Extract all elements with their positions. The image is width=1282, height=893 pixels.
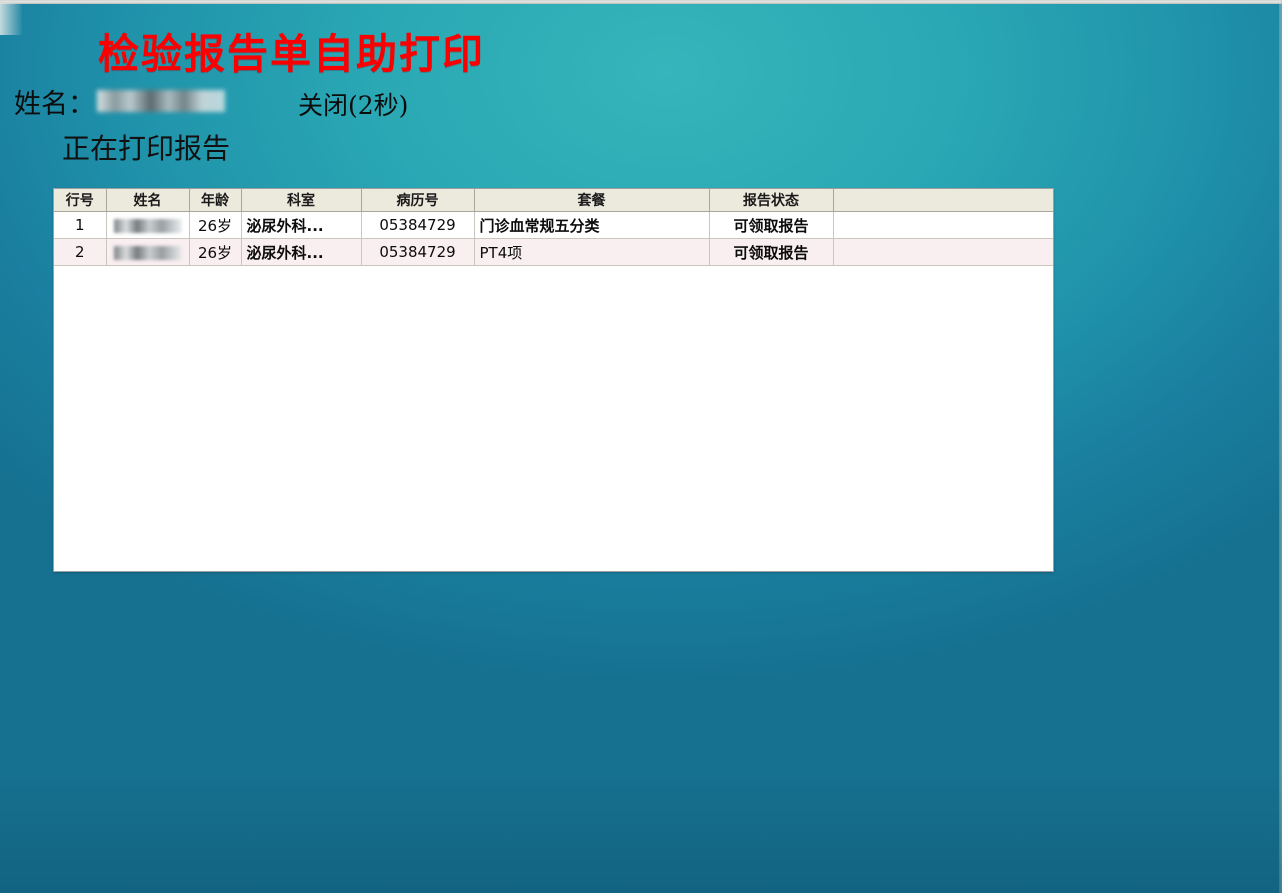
window-frame-left-strip [0,3,22,35]
close-countdown-button[interactable]: 关闭(2秒) [298,86,408,122]
cell-dept: 泌尿外科... [241,212,361,239]
cell-status: 可领取报告 [709,212,833,239]
column-header-age[interactable]: 年龄 [189,189,241,212]
cell-status: 可领取报告 [709,239,833,266]
cell-mrn: 05384729 [361,239,474,266]
cell-index: 1 [54,212,106,239]
cell-age: 26岁 [189,212,241,239]
cell-package: 门诊血常规五分类 [474,212,709,239]
print-status-text: 正在打印报告 [62,127,230,167]
cell-mrn: 05384729 [361,212,474,239]
cell-filler [833,212,1053,239]
window-frame-top-edge [0,0,1282,4]
patient-name-value-redacted [97,90,225,112]
cell-age: 26岁 [189,239,241,266]
background-bottom-vignette [0,773,1282,893]
cell-package: PT4项 [474,239,709,266]
cell-dept: 泌尿外科... [241,239,361,266]
table-row[interactable]: 2 26岁 泌尿外科... 05384729 PT4项 可领取报告 [54,239,1053,266]
report-table: 行号 姓名 年龄 科室 病历号 套餐 报告状态 1 26岁 泌 [54,189,1053,266]
table-body: 1 26岁 泌尿外科... 05384729 门诊血常规五分类 可领取报告 2 [54,212,1053,266]
cell-index: 2 [54,239,106,266]
column-header-name[interactable]: 姓名 [106,189,189,212]
table-row[interactable]: 1 26岁 泌尿外科... 05384729 门诊血常规五分类 可领取报告 [54,212,1053,239]
column-header-dept[interactable]: 科室 [241,189,361,212]
column-header-index[interactable]: 行号 [54,189,106,212]
column-header-status[interactable]: 报告状态 [709,189,833,212]
report-list-panel: 行号 姓名 年龄 科室 病历号 套餐 报告状态 1 26岁 泌 [53,188,1054,572]
application-window: 检验报告单自助打印 姓名： 关闭(2秒) 正在打印报告 行号 姓名 年龄 科室 … [0,0,1282,893]
page-title: 检验报告单自助打印 [98,20,485,80]
cell-name [106,239,189,266]
column-header-filler[interactable] [833,189,1053,212]
patient-name-row: 姓名： [14,84,225,118]
name-redaction-block [114,246,182,260]
column-header-package[interactable]: 套餐 [474,189,709,212]
cell-name [106,212,189,239]
column-header-mrn[interactable]: 病历号 [361,189,474,212]
patient-name-label: 姓名： [14,82,95,121]
table-header-row: 行号 姓名 年龄 科室 病历号 套餐 报告状态 [54,189,1053,212]
name-redaction-block [114,219,182,233]
cell-filler [833,239,1053,266]
